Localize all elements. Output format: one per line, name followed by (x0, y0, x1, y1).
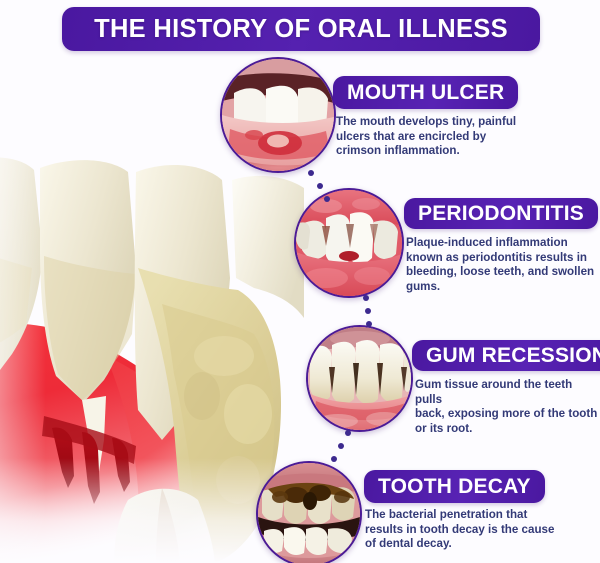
connector-dot (331, 456, 337, 462)
connector-dot (345, 430, 351, 436)
periodontitis-photo (294, 188, 404, 298)
label-gum-recession: GUM RECESSION (412, 340, 600, 371)
desc-line: gums. (406, 280, 598, 295)
connector-dot (363, 295, 369, 301)
page-title-banner: THE HISTORY OF ORAL ILLNESS (62, 7, 540, 51)
desc-line: or its root. (415, 422, 599, 437)
desc-line: Gum tissue around the teeth pulls (415, 378, 599, 407)
page-title: THE HISTORY OF ORAL ILLNESS (94, 15, 508, 44)
connector-dot (365, 308, 371, 314)
description-mouth-ulcer: The mouth develops tiny, painful ulcers … (336, 115, 546, 159)
connector-dot (338, 443, 344, 449)
desc-line: The bacterial penetration that (365, 508, 565, 523)
label-tooth-decay: TOOTH DECAY (364, 470, 545, 503)
connector-dot (308, 170, 314, 176)
desc-line: results in tooth decay is the cause (365, 523, 565, 538)
description-tooth-decay: The bacterial penetration that results i… (365, 508, 565, 552)
oral-illness-infographic: THE HISTORY OF ORAL ILLNESS (0, 0, 600, 563)
connector-dot (324, 196, 330, 202)
description-gum-recession: Gum tissue around the teeth pulls back, … (415, 378, 599, 436)
desc-line: ulcers that are encircled by (336, 130, 546, 145)
desc-line: The mouth develops tiny, painful (336, 115, 546, 130)
desc-line: known as periodontitis results in (406, 251, 598, 266)
label-text-mouth-ulcer: MOUTH ULCER (347, 81, 504, 105)
label-mouth-ulcer: MOUTH ULCER (333, 76, 518, 109)
desc-line: of dental decay. (365, 537, 565, 552)
description-periodontitis: Plaque-induced inflammation known as per… (406, 236, 598, 294)
desc-line: crimson inflammation. (336, 144, 546, 159)
connector-dot (317, 183, 323, 189)
connector-dot (366, 321, 372, 327)
label-text-periodontitis: PERIODONTITIS (418, 202, 584, 226)
mouth-ulcer-photo (220, 57, 336, 173)
label-periodontitis: PERIODONTITIS (404, 198, 598, 229)
desc-line: back, exposing more of the tooth (415, 407, 599, 422)
label-text-gum-recession: GUM RECESSION (426, 344, 600, 368)
label-text-tooth-decay: TOOTH DECAY (378, 475, 531, 499)
gum-recession-photo (306, 325, 413, 432)
tooth-decay-photo (256, 461, 362, 563)
desc-line: bleeding, loose teeth, and swollen (406, 265, 598, 280)
desc-line: Plaque-induced inflammation (406, 236, 598, 251)
